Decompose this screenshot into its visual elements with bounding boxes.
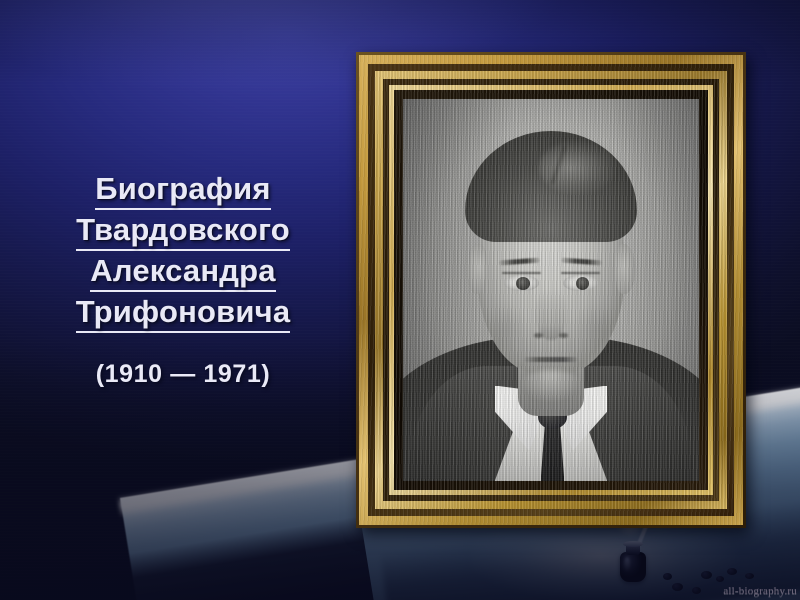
- frame-layer-groove-2: [383, 79, 719, 501]
- title-line-1-text: Биография: [95, 171, 270, 210]
- frame-mat-dark: [394, 90, 708, 490]
- frame-layer-gold-mid: [375, 71, 727, 509]
- title-block: Биография Твардовского Александра Трифон…: [18, 168, 348, 389]
- title-line-2: Твардовского: [18, 209, 348, 250]
- frame-layer-gold-outer: [359, 55, 743, 525]
- portrait-frame: [356, 52, 746, 528]
- watermark: all-biography.ru: [723, 585, 797, 597]
- presentation-slide: Биография Твардовского Александра Трифон…: [0, 0, 800, 600]
- portrait-photo: [403, 99, 699, 481]
- title-line-3: Александра: [18, 250, 348, 291]
- title-line-1: Биография: [18, 168, 348, 209]
- frame-layer-gold-inner: [389, 85, 713, 495]
- title-line-2-text: Твардовского: [76, 212, 290, 251]
- life-dates: (1910 — 1971): [18, 360, 348, 389]
- title-line-4-text: Трифоновича: [76, 294, 291, 333]
- title-line-4: Трифоновича: [18, 291, 348, 332]
- frame-mat-light: [403, 99, 699, 481]
- photo-vignette: [403, 99, 699, 481]
- title-line-3-text: Александра: [90, 253, 275, 292]
- frame-layer-outer: [356, 52, 746, 528]
- frame-layer-groove-1: [368, 64, 734, 516]
